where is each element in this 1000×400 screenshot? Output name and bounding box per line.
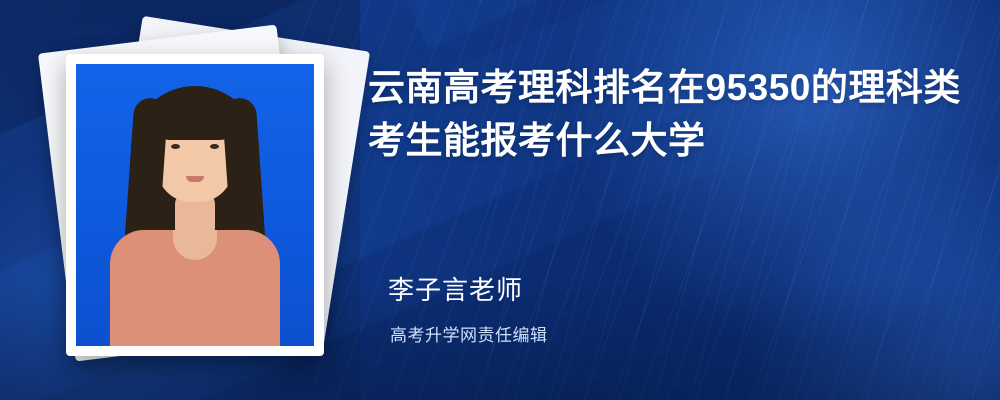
portrait-eye-right	[210, 144, 219, 149]
page-title: 云南高考理科排名在95350的理科类考生能报考什么大学	[368, 62, 968, 167]
author-name: 李子言老师	[388, 270, 948, 307]
portrait-eye-left	[171, 144, 180, 149]
portrait-photo	[76, 64, 314, 346]
author-role: 高考升学网责任编辑	[388, 321, 948, 346]
photo-card-stack	[40, 28, 340, 372]
portrait-body	[110, 230, 280, 346]
headline-block: 云南高考理科排名在95350的理科类考生能报考什么大学	[368, 62, 968, 167]
author-block: 李子言老师 高考升学网责任编辑	[388, 270, 948, 346]
photo-card-front	[66, 54, 324, 356]
article-cover-banner: 云南高考理科排名在95350的理科类考生能报考什么大学 李子言老师 高考升学网责…	[0, 0, 1000, 400]
